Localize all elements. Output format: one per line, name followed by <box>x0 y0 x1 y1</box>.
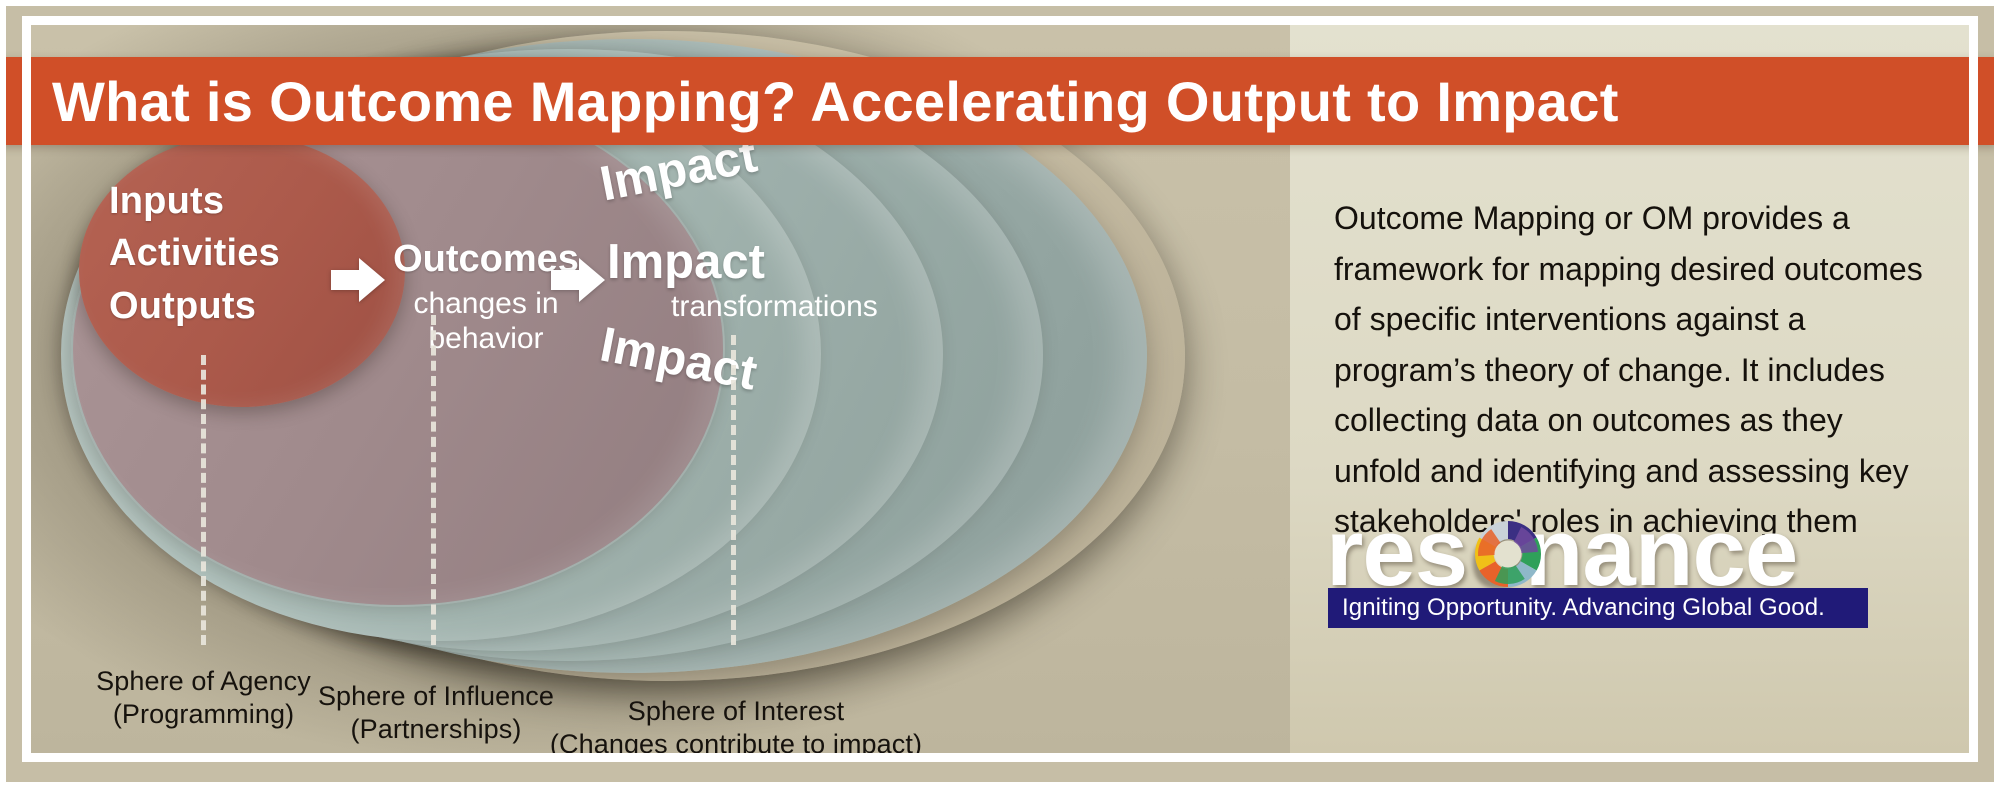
agency-line-activities: Activities <box>109 227 369 279</box>
arrow-head <box>579 258 605 302</box>
arrow-shaft <box>551 270 581 290</box>
arrow-shaft <box>331 270 361 290</box>
agency-line-outputs: Outputs <box>109 280 369 332</box>
resonance-wordmark: resonance <box>1326 510 1896 596</box>
outer-margin-bottom <box>0 782 2000 788</box>
title-bar: What is Outcome Mapping? Accelerating Ou… <box>0 57 1997 145</box>
leader-line-agency <box>201 355 206 645</box>
impact-subtitle: transformations <box>671 290 878 323</box>
leader-line-interest <box>731 335 736 645</box>
caption-line2: (Changes contribute to impact) <box>521 728 951 753</box>
outer-margin-right <box>1994 0 2000 788</box>
outer-margin-top <box>0 0 2000 6</box>
arrow-right-icon-2 <box>551 258 607 302</box>
caption-sphere-of-interest: Sphere of Interest (Changes contribute t… <box>521 695 951 753</box>
agency-line-inputs: Inputs <box>109 175 369 227</box>
leader-line-influence <box>431 315 436 645</box>
agency-sphere-label: Inputs Activities Outputs <box>109 175 369 332</box>
caption-line1: Sphere of Interest <box>521 695 951 728</box>
resonance-tagline: Igniting Opportunity. Advancing Global G… <box>1328 588 1868 628</box>
outer-margin-left <box>0 0 6 788</box>
outcomes-subtitle-line2: behavior <box>376 321 596 356</box>
page-title: What is Outcome Mapping? Accelerating Ou… <box>52 69 1619 134</box>
description-paragraph: Outcome Mapping or OM provides a framewo… <box>1334 193 1924 547</box>
aperture-iris-icon <box>1472 518 1544 590</box>
resonance-logo: resonance <box>1326 510 1896 630</box>
poster-canvas: Inputs Activities Outputs Outcomes chang… <box>0 0 2000 788</box>
impact-word-middle: Impact <box>607 234 765 290</box>
